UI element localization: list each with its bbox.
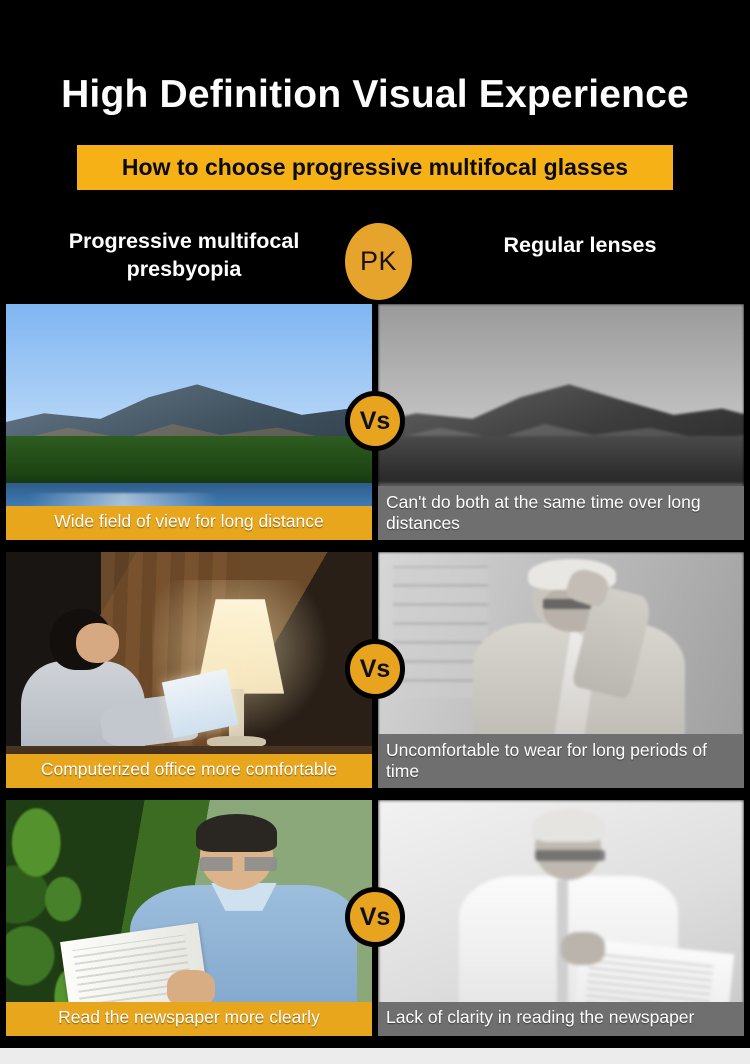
grayscale-man-reading-blurred-photo bbox=[378, 800, 744, 1036]
con-caption: Can't do both at the same time over long… bbox=[378, 486, 744, 540]
comparison-row: Read the newspaper more clearly Lack of … bbox=[0, 800, 750, 1036]
page-title: High Definition Visual Experience bbox=[0, 66, 750, 124]
pro-caption: Wide field of view for long distance bbox=[6, 506, 372, 540]
comparison-row: Computerized office more comfortable Unc… bbox=[0, 552, 750, 788]
bottom-strip bbox=[0, 1048, 750, 1064]
con-cell: Lack of clarity in reading the newspaper bbox=[378, 800, 744, 1036]
column-header-progressive: Progressive multifocal presbyopia bbox=[14, 227, 354, 283]
color-woman-at-desk-lamp-photo bbox=[6, 552, 372, 788]
color-mountain-lake-photo bbox=[6, 304, 372, 540]
subtitle-banner-label: How to choose progressive multifocal gla… bbox=[122, 154, 628, 181]
pro-caption: Computerized office more comfortable bbox=[6, 754, 372, 788]
subtitle-banner: How to choose progressive multifocal gla… bbox=[77, 145, 673, 190]
pro-cell: Computerized office more comfortable bbox=[6, 552, 372, 788]
con-caption: Lack of clarity in reading the newspaper bbox=[378, 1002, 744, 1036]
vs-badge-label: Vs bbox=[360, 407, 391, 436]
vs-badge: Vs bbox=[345, 639, 405, 699]
pk-badge: PK bbox=[345, 223, 412, 300]
pro-caption: Read the newspaper more clearly bbox=[6, 1002, 372, 1036]
vs-badge: Vs bbox=[345, 887, 405, 947]
column-header-regular: Regular lenses bbox=[420, 231, 740, 259]
con-cell: Uncomfortable to wear for long periods o… bbox=[378, 552, 744, 788]
infographic-page: High Definition Visual Experience How to… bbox=[0, 0, 750, 1064]
con-caption: Uncomfortable to wear for long periods o… bbox=[378, 734, 744, 788]
vs-badge-label: Vs bbox=[360, 655, 391, 684]
comparison-row: Wide field of view for long distance Can… bbox=[0, 304, 750, 540]
pro-cell: Read the newspaper more clearly bbox=[6, 800, 372, 1036]
pro-cell: Wide field of view for long distance bbox=[6, 304, 372, 540]
pk-badge-label: PK bbox=[360, 246, 397, 277]
vs-badge: Vs bbox=[345, 391, 405, 451]
con-cell: Can't do both at the same time over long… bbox=[378, 304, 744, 540]
vs-badge-label: Vs bbox=[360, 903, 391, 932]
comparison-grid: Wide field of view for long distance Can… bbox=[0, 304, 750, 1048]
color-man-reading-outdoors-photo bbox=[6, 800, 372, 1036]
